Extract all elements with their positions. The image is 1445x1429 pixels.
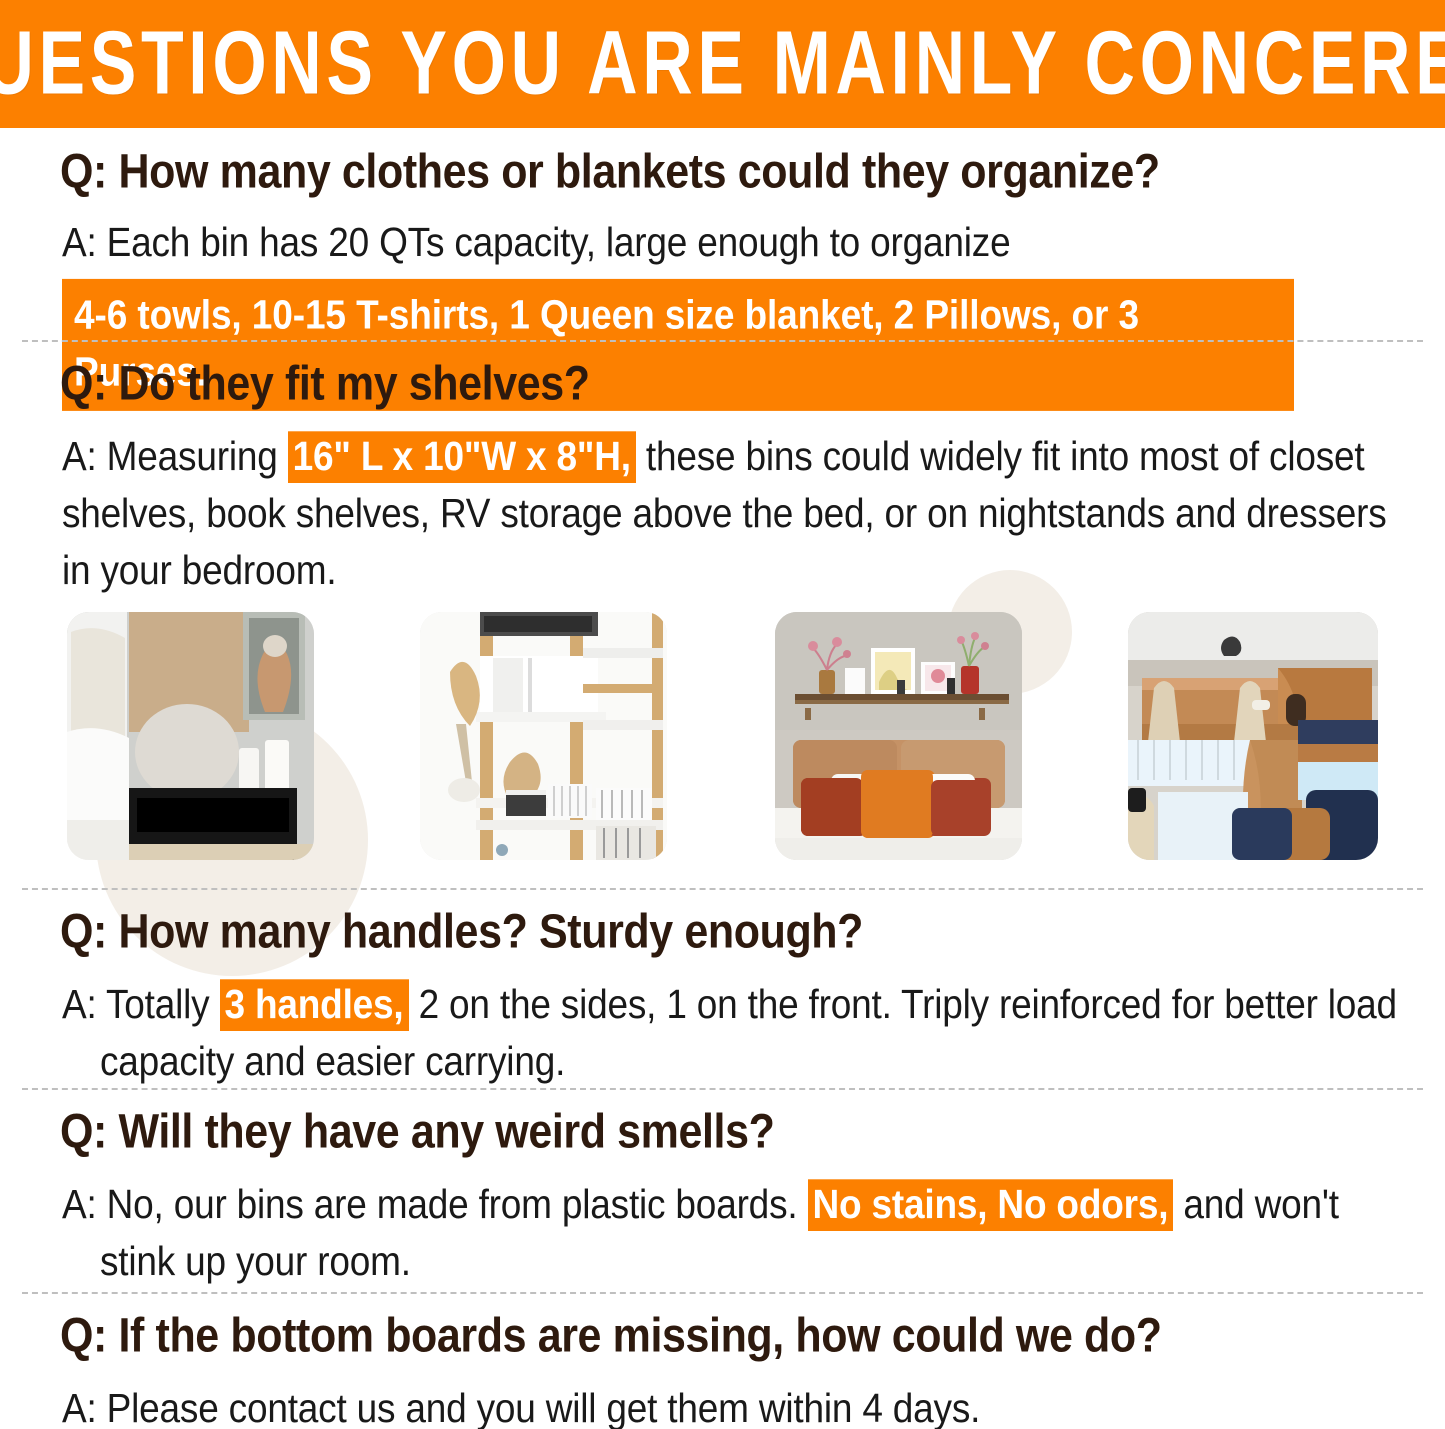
faq-question-fit-shelves: Q: Do they fit my shelves? [60, 357, 1445, 411]
faq-answer-handles-pre: A: Totally [62, 982, 220, 1027]
faq-answer-bottom-boards-text: A: Please contact us and you will get th… [62, 1386, 980, 1429]
section-divider-2 [22, 888, 1423, 890]
faq-answer-capacity-text: A: Each bin has 20 QTs capacity, large e… [62, 220, 1010, 265]
faq-question-capacity: Q: How many clothes or blankets could th… [60, 145, 1445, 199]
photo-rv-storage [1128, 612, 1378, 860]
faq-answer-fit-shelves: A: Measuring 16" L x 10"W x 8"H, these b… [62, 428, 1411, 599]
faq-infographic-page: QUESTIONS YOU ARE MAINLY CONCERED Q: How… [0, 0, 1445, 1429]
faq-answer-smells: A: No, our bins are made from plastic bo… [62, 1176, 1411, 1290]
faq-item-bottom-boards: Q: If the bottom boards are missing, how… [0, 1312, 1445, 1429]
photo-bamboo-shelf [420, 612, 667, 860]
faq-answer-bottom-boards: A: Please contact us and you will get th… [62, 1380, 1411, 1429]
section-divider-4 [22, 1292, 1423, 1294]
faq-question-smells: Q: Will they have any weird smells? [60, 1105, 1445, 1159]
faq-item-handles: Q: How many handles? Sturdy enough? A: T… [0, 908, 1445, 1080]
photo-bedroom-shelf [775, 612, 1022, 860]
faq-highlight-dimensions: 16" L x 10"W x 8"H, [288, 431, 636, 483]
faq-answer-fit-shelves-pre: A: Measuring [62, 434, 288, 479]
header-banner: QUESTIONS YOU ARE MAINLY CONCERED [0, 0, 1445, 128]
photo-nightstand [67, 612, 314, 860]
faq-item-fit-shelves: Q: Do they fit my shelves? A: Measuring … [0, 360, 1445, 584]
faq-answer-smells-pre: A: No, our bins are made from plastic bo… [62, 1182, 808, 1227]
section-divider-3 [22, 1088, 1423, 1090]
section-divider-1 [22, 340, 1423, 342]
faq-question-handles: Q: How many handles? Sturdy enough? [60, 905, 1445, 959]
faq-item-smells: Q: Will they have any weird smells? A: N… [0, 1108, 1445, 1280]
page-title: QUESTIONS YOU ARE MAINLY CONCERED [0, 19, 1445, 109]
faq-highlight-handles: 3 handles, [220, 979, 409, 1031]
photo-gallery [0, 612, 1445, 860]
faq-answer-handles: A: Totally 3 handles, 2 on the sides, 1 … [62, 976, 1411, 1090]
faq-question-bottom-boards: Q: If the bottom boards are missing, how… [60, 1309, 1445, 1363]
faq-highlight-smells: No stains, No odors, [808, 1179, 1174, 1231]
